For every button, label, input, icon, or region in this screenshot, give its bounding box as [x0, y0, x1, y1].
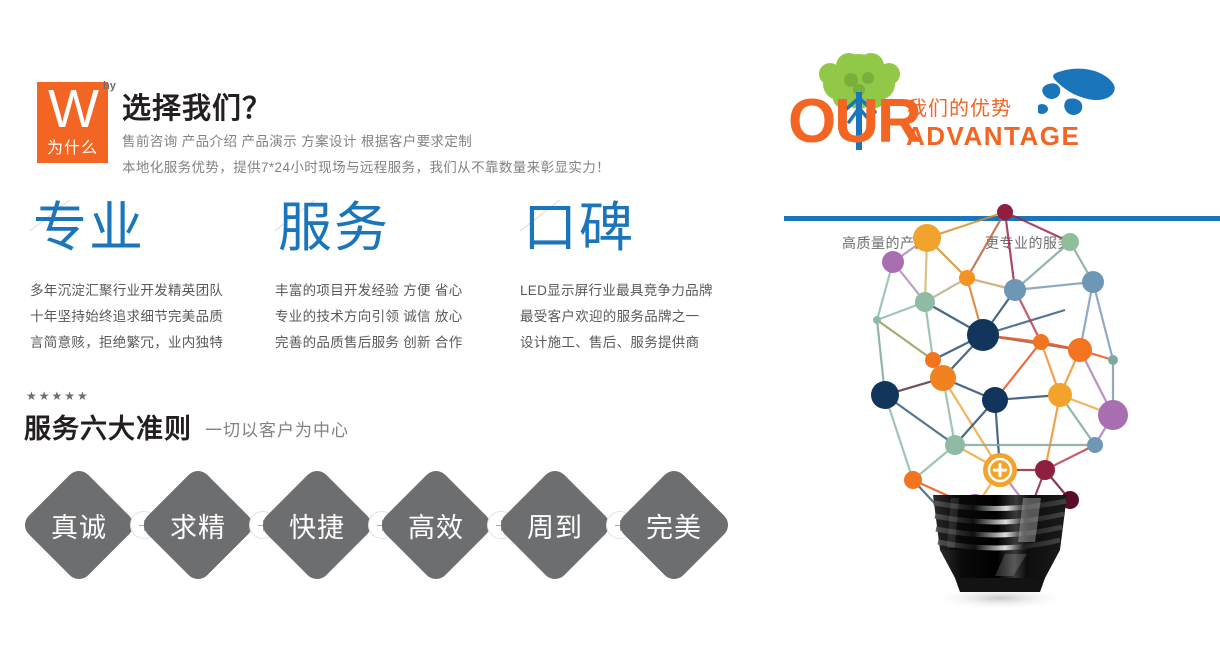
principle-diamond[interactable]: 完美	[615, 466, 733, 584]
principles-title: 服务六大准则	[24, 407, 192, 446]
feature-heading: 服务	[278, 196, 390, 260]
principle-diamond[interactable]: 周到	[496, 466, 614, 584]
right-panel: OUR 我们的优势 ADVANTAGE 高质量的产品、 更专业的服务、	[770, 0, 1220, 670]
feature-line: 多年沉淀汇聚行业开发精英团队	[30, 278, 275, 304]
feature-line: 丰富的项目开发经验 方便 省心	[275, 278, 520, 304]
principle-diamond[interactable]: 快捷	[258, 466, 376, 584]
our-advantage-header: OUR 我们的优势 ADVANTAGE 高质量的产品、 更专业的服务、	[780, 55, 1220, 165]
feature-heading-wrap: 口碑	[520, 200, 765, 278]
principles-subtitle: 一切以客户为中心	[205, 416, 349, 441]
principle-diamond[interactable]: 求精	[139, 466, 257, 584]
why-logo-subtitle: 为什么	[37, 140, 108, 158]
feature-heading-wrap: 专业	[30, 200, 275, 278]
our-advantage-en-title: ADVANTAGE	[906, 121, 1080, 152]
feature-column-service: 服务 丰富的项目开发经验 方便 省心 专业的技术方向引领 诚信 放心 完善的品质…	[275, 200, 520, 356]
principle-label: 完美	[615, 466, 733, 584]
feature-line: 设计施工、售后、服务提供商	[520, 330, 765, 356]
star-rating: ★★★★★	[26, 389, 90, 403]
principle-label: 高效	[377, 466, 495, 584]
principle-diamond[interactable]: 真诚	[20, 466, 138, 584]
feature-column-professional: 专业 多年沉淀汇聚行业开发精英团队 十年坚持始终追求细节完美品质 言简意赅，拒绝…	[30, 200, 275, 356]
feature-line: 最受客户欢迎的服务品牌之一	[520, 304, 765, 330]
why-support-line: 本地化服务优势，提供7*24小时现场与远程服务，我们从不靠数量来彰显实力！	[122, 156, 610, 176]
water-splash-icon	[1038, 65, 1118, 125]
feature-heading-wrap: 服务	[275, 200, 520, 278]
feature-heading: 口碑	[523, 196, 635, 260]
why-logo-badge: W 为什么	[37, 82, 108, 163]
why-logo-superscript: hy	[103, 80, 116, 92]
network-lightbulb-illustration	[855, 190, 1145, 620]
feature-line: 十年坚持始终追求细节完美品质	[30, 304, 275, 330]
principle-label: 周到	[496, 466, 614, 584]
feature-line: 言简意赅，拒绝繁冗，业内独特	[30, 330, 275, 356]
feature-column-reputation: 口碑 LED显示屏行业最具竞争力品牌 最受客户欢迎的服务品牌之一 设计施工、售后…	[520, 200, 765, 356]
principle-label: 快捷	[258, 466, 376, 584]
feature-line: 完善的品质售后服务 创新 合作	[275, 330, 520, 356]
principles-diamond-row: 真诚 求精 快捷 高效	[20, 466, 740, 584]
principle-label: 真诚	[20, 466, 138, 584]
feature-line: 专业的技术方向引领 诚信 放心	[275, 304, 520, 330]
feature-line: LED显示屏行业最具竞争力品牌	[520, 278, 765, 304]
page-root: W 为什么 hy 选择我们？ 售前咨询 产品介绍 产品演示 方案设计 根据客户要…	[0, 0, 1220, 670]
our-advantage-cn-title: 我们的优势	[907, 92, 1012, 121]
principle-label: 求精	[139, 466, 257, 584]
why-services-line: 售前咨询 产品介绍 产品演示 方案设计 根据客户要求定制	[122, 130, 472, 150]
why-logo-glyph: W	[37, 80, 108, 138]
why-title: 选择我们？	[122, 85, 272, 127]
feature-heading: 专业	[33, 196, 145, 260]
left-panel: W 为什么 hy 选择我们？ 售前咨询 产品介绍 产品演示 方案设计 根据客户要…	[0, 0, 770, 670]
our-word: OUR	[788, 91, 920, 153]
principle-diamond[interactable]: 高效	[377, 466, 495, 584]
